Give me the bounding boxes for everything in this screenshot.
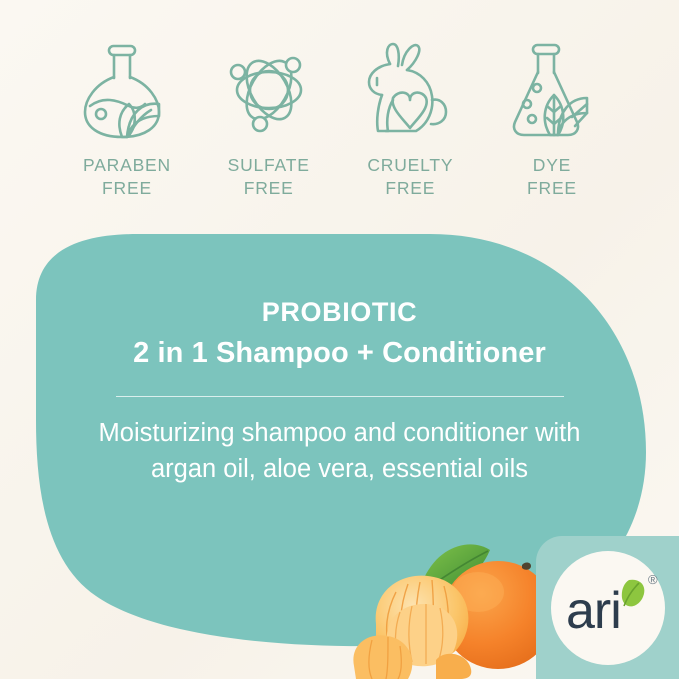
- leaf-icon: [622, 580, 645, 607]
- product-eyebrow: PROBIOTIC: [0, 296, 679, 328]
- product-headline: 2 in 1 Shampoo + Conditioner: [0, 334, 679, 373]
- copy-divider: [116, 396, 564, 398]
- rabbit-heart-icon: [360, 38, 460, 142]
- badge-sulfate-free-label: SULFATE FREE: [228, 154, 310, 200]
- registered-trademark-symbol: ®: [648, 572, 658, 587]
- ari-wordmark: ari ®: [536, 536, 679, 679]
- badge-dye-free-label: DYE FREE: [527, 154, 577, 200]
- badge-dye-free: DYE FREE: [493, 38, 611, 208]
- ari-logo-tile: ari ®: [536, 536, 679, 679]
- badge-paraben-free: PARABEN FREE: [68, 38, 186, 208]
- conical-flask-leaf-icon: [502, 38, 602, 142]
- flask-leaf-icon: [77, 38, 177, 142]
- claims-badge-row: PARABEN FREE SULFATE FREE: [0, 38, 679, 208]
- badge-sulfate-free: SULFATE FREE: [210, 38, 328, 208]
- orange-fruit-artwork: [332, 520, 562, 679]
- badge-cruelty-free: CRUELTY FREE: [351, 38, 469, 208]
- logo-wordmark-text: ari: [566, 582, 621, 640]
- product-description: Moisturizing shampoo and conditioner wit…: [0, 415, 679, 487]
- badge-cruelty-free-label: CRUELTY FREE: [367, 154, 453, 200]
- badge-paraben-free-label: PARABEN FREE: [83, 154, 171, 200]
- product-feature-image: PROBIOTIC 2 in 1 Shampoo + Conditioner M…: [0, 0, 679, 679]
- peeled-orange-segments: [353, 576, 471, 679]
- panel-copy: PROBIOTIC 2 in 1 Shampoo + Conditioner M…: [0, 296, 679, 487]
- atom-molecule-icon: [219, 38, 319, 142]
